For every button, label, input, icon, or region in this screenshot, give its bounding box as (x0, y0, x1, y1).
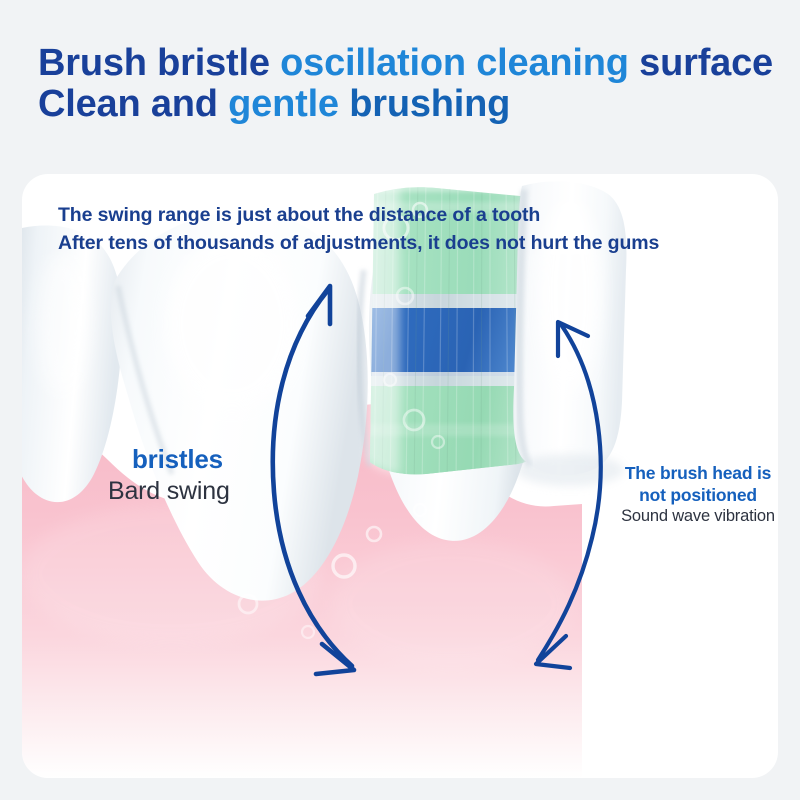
headline-seg-2: oscillation (280, 42, 476, 84)
card-subtitle-line-1: The swing range is just about the distan… (58, 202, 659, 230)
headline-seg-6: gentle (228, 83, 349, 125)
page-title: Brush bristle oscillation cleaning surfa… (38, 44, 778, 126)
headline-line-2: Clean and gentle brushing (38, 85, 778, 124)
headline-seg-3: cleaning (476, 42, 639, 84)
callout-brush-head-title-line-2: not positioned (608, 484, 778, 506)
callout-bristles-title: bristles (108, 444, 230, 476)
headline-line-1: Brush bristle oscillation cleaning surfa… (38, 44, 778, 83)
callout-bristles: bristles Bard swing (108, 444, 230, 506)
callout-brush-head-subtitle: Sound wave vibration (608, 506, 778, 526)
headline-seg-4: surface (639, 42, 773, 84)
headline-seg-5: Clean and (38, 83, 228, 125)
infographic-poster: Brush bristle oscillation cleaning surfa… (0, 0, 800, 800)
card-subtitle: The swing range is just about the distan… (58, 202, 659, 257)
card-subtitle-line-2: After tens of thousands of adjustments, … (58, 230, 659, 258)
headline-seg-7: brushing (349, 83, 510, 125)
callout-brush-head: The brush head is not positioned Sound w… (608, 462, 778, 526)
callout-brush-head-title-line-1: The brush head is (608, 462, 778, 484)
callout-bristles-subtitle: Bard swing (108, 476, 230, 507)
headline-seg-1: Brush bristle (38, 42, 280, 84)
illustration-card: The swing range is just about the distan… (22, 174, 778, 778)
